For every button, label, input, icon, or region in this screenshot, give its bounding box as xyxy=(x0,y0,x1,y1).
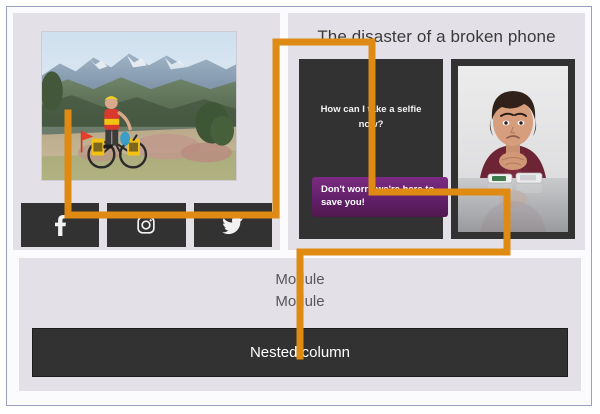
module-label-1: Module xyxy=(19,258,581,291)
cyclist-mountain-photo[interactable] xyxy=(41,31,237,181)
instagram-icon[interactable] xyxy=(107,203,185,247)
twitter-icon[interactable] xyxy=(194,203,272,247)
twitter-bird-glyph xyxy=(222,216,243,234)
bottom-panel[interactable]: Module Module Nested column xyxy=(19,258,581,391)
facebook-icon[interactable] xyxy=(21,203,99,247)
right-panel[interactable]: The disaster of a broken phone How can I… xyxy=(288,13,585,250)
facebook-glyph xyxy=(53,214,67,236)
cards-row: How can I take a selfie now? Don't worry… xyxy=(299,59,575,239)
worried-woman-photo-graphic xyxy=(458,66,568,232)
module-label-2: Module xyxy=(19,291,581,313)
cta-button[interactable]: Don't worry we're here to save you! xyxy=(312,177,448,217)
left-panel[interactable] xyxy=(13,13,280,250)
screenshot-canvas: The disaster of a broken phone How can I… xyxy=(0,0,600,414)
social-tiles-row xyxy=(21,203,272,247)
photo-card[interactable] xyxy=(451,59,575,239)
top-row: The disaster of a broken phone How can I… xyxy=(13,13,585,250)
cyclist-mountain-photo-graphic xyxy=(42,32,236,180)
selfie-question: How can I take a selfie now? xyxy=(309,103,433,132)
worried-woman-broken-phone-photo xyxy=(458,66,568,232)
panel-heading: The disaster of a broken phone xyxy=(288,27,585,47)
text-card[interactable]: How can I take a selfie now? Don't worry… xyxy=(299,59,443,239)
nested-column[interactable]: Nested column xyxy=(32,328,568,377)
instagram-glyph xyxy=(136,215,156,235)
